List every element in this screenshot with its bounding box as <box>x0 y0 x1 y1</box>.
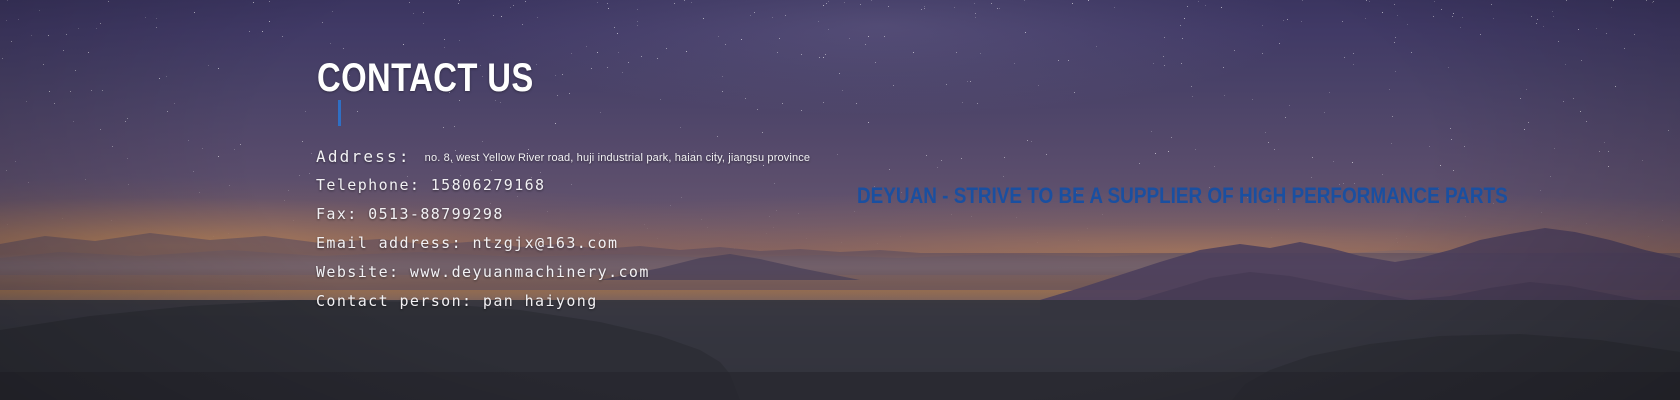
contact-value: no. 8, west Yellow River road, huji indu… <box>411 152 811 164</box>
contact-value: 15806279168 <box>420 176 545 194</box>
contact-details-list: Address:no. 8, west Yellow River road, h… <box>316 142 810 316</box>
contact-line: Website: www.deyuanmachinery.com <box>316 258 810 287</box>
title-accent-bar <box>338 100 341 126</box>
contact-label: Website: <box>316 263 399 281</box>
contact-line: Telephone: 15806279168 <box>316 171 810 200</box>
contact-line: Email address: ntzgjx@163.com <box>316 229 810 258</box>
page-title: CONTACT US <box>317 56 534 100</box>
banner-content: CONTACT US Address:no. 8, west Yellow Ri… <box>0 0 1680 400</box>
contact-label: Telephone: <box>316 176 420 194</box>
contact-label: Fax: <box>316 205 358 223</box>
contact-value: pan haiyong <box>472 292 597 310</box>
contact-banner: CONTACT US Address:no. 8, west Yellow Ri… <box>0 0 1680 400</box>
contact-label: Email address: <box>316 234 462 252</box>
contact-line: Contact person: pan haiyong <box>316 287 810 316</box>
contact-label: Address: <box>316 147 411 166</box>
contact-label: Contact person: <box>316 292 472 310</box>
contact-line: Address:no. 8, west Yellow River road, h… <box>316 142 810 171</box>
contact-value: ntzgjx@163.com <box>462 234 618 252</box>
contact-line: Fax: 0513-88799298 <box>316 200 810 229</box>
contact-value: 0513-88799298 <box>358 205 504 223</box>
company-slogan: DEYUAN - STRIVE TO BE A SUPPLIER OF HIGH… <box>857 183 1508 209</box>
contact-value: www.deyuanmachinery.com <box>399 263 649 281</box>
